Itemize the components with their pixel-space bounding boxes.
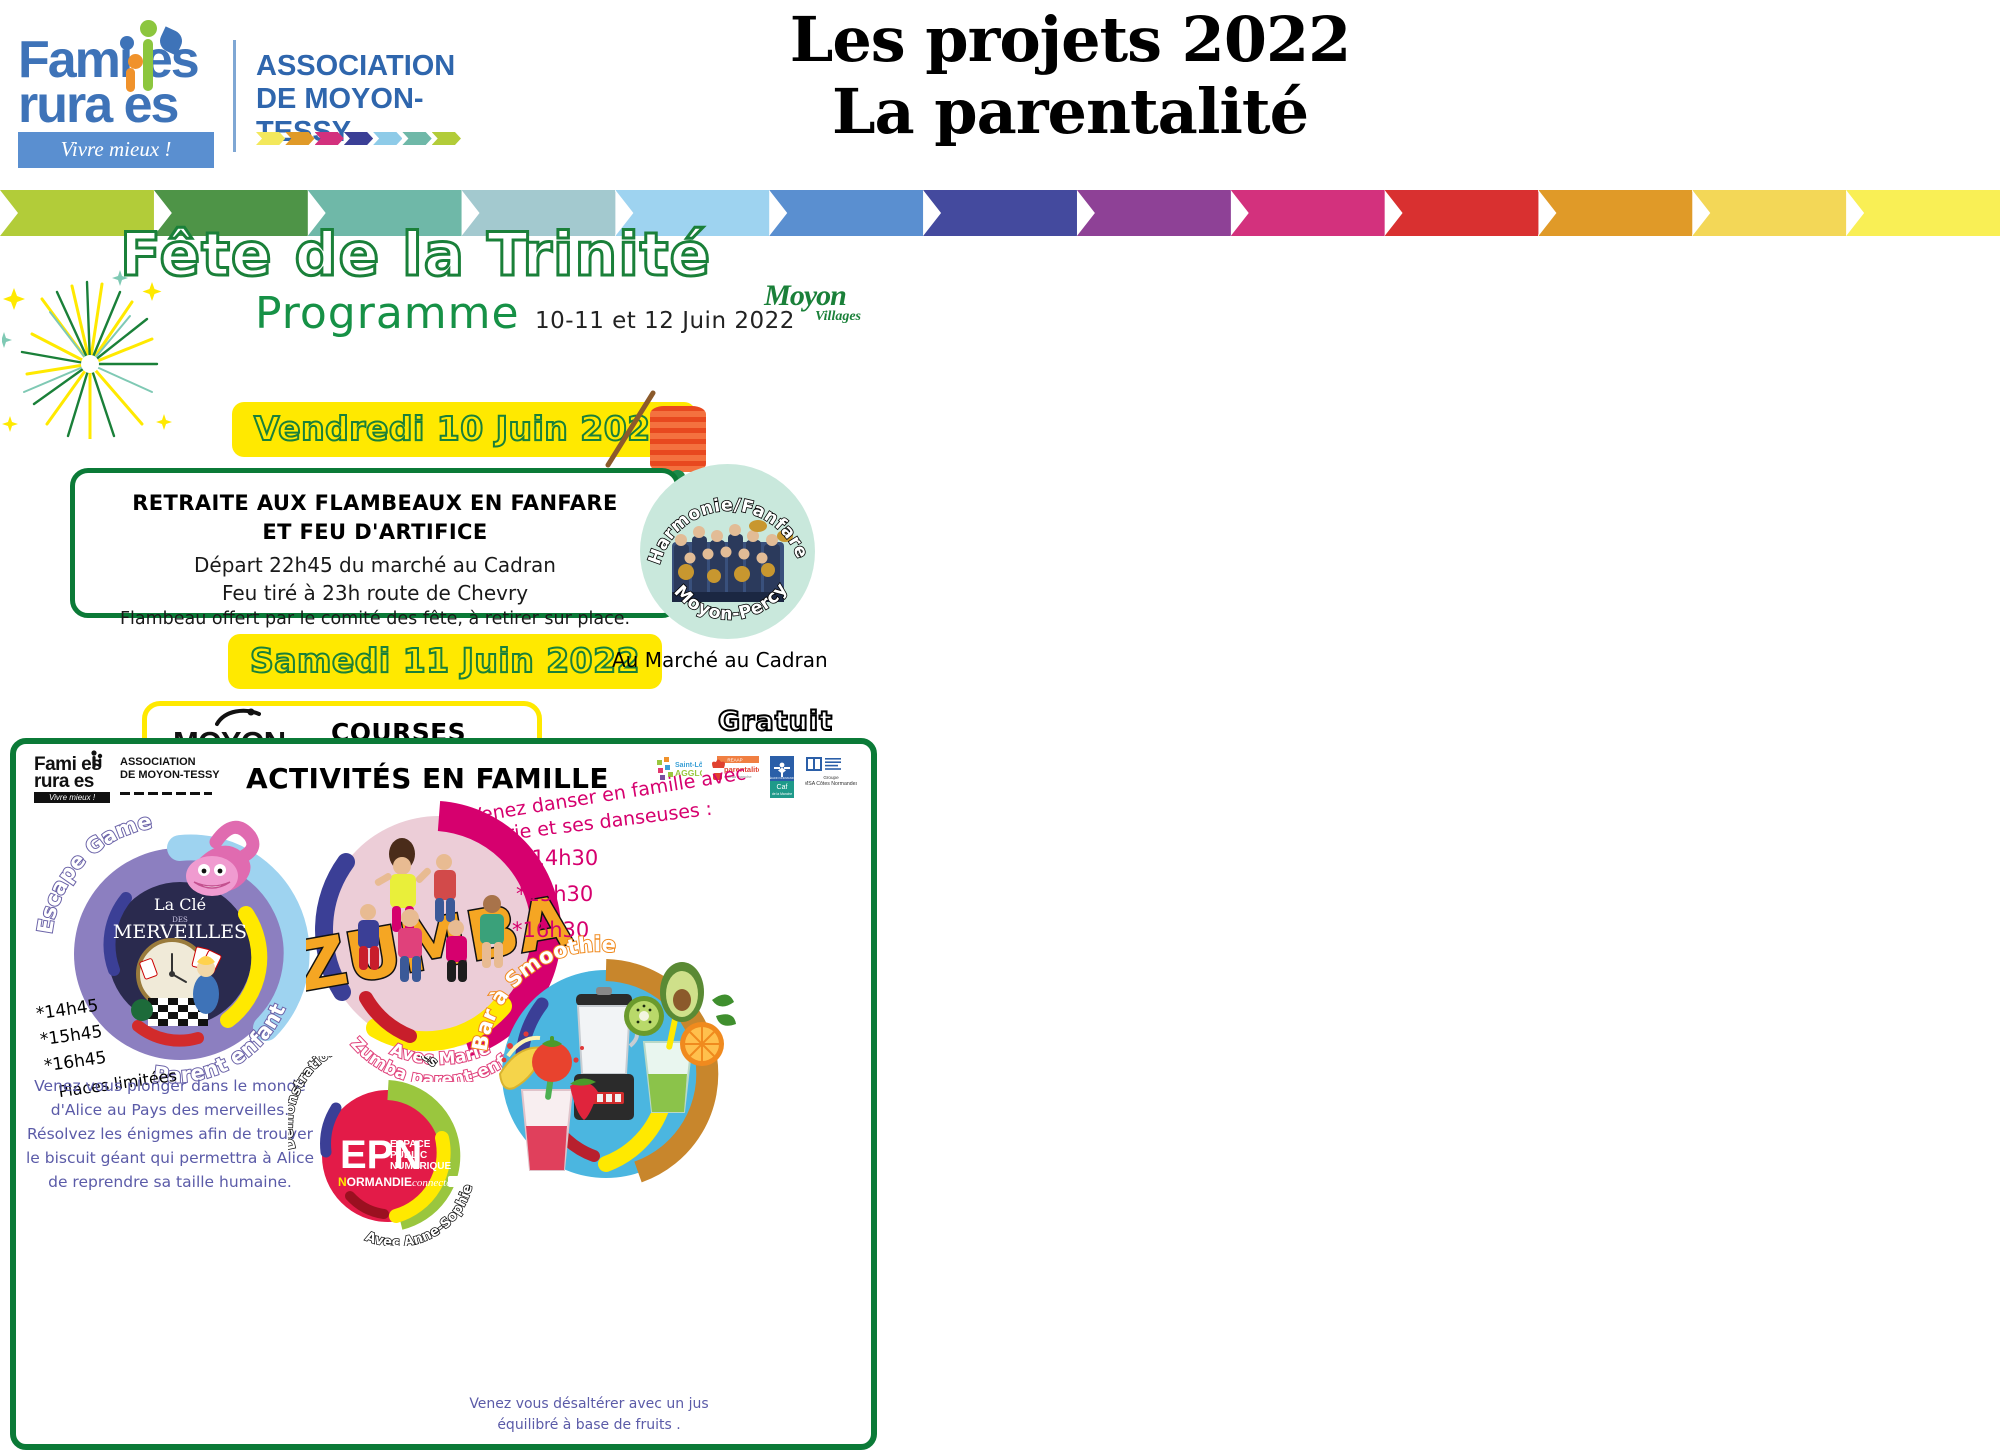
mini-assoc-line2: DE MOYON-TESSY (120, 769, 220, 782)
mint-leaves-icon (712, 994, 736, 1025)
partner-logo-msa: Groupe MSA Côtes Normandes (805, 756, 857, 793)
chevron-segment-6 (923, 190, 1077, 236)
logo-band-segment-2 (315, 132, 344, 145)
friday-title-2: ET FEU D'ARTIFICE (75, 520, 675, 544)
epn-side-2: PUBLIC (390, 1150, 427, 1161)
escape-description: Venez vous plonger dans le monde d'Alice… (26, 1074, 314, 1194)
chevron-segment-11 (1692, 190, 1846, 236)
friday-title-1: RETRAITE AUX FLAMBEAUX EN FANFARE (75, 491, 675, 515)
smoothie-graphic: Bar à Smoothie (466, 934, 756, 1204)
family-figures-icon (114, 20, 194, 92)
orange-icon (680, 1022, 724, 1066)
fanfare-photo-badge: Harmonie/Fanfare Moyon-Percy (640, 464, 815, 639)
epn-bottom-1: NORMANDIE (338, 1175, 412, 1189)
poster-content: Fête de la Trinité Moyon Villages Progra… (0, 236, 880, 1448)
mini-logo-dashes (120, 792, 212, 795)
zumba-time-2: *15h30 (516, 882, 593, 906)
festival-title: Fête de la Trinité (120, 220, 711, 290)
logo-band-segment-0 (256, 132, 285, 145)
logo-band-segment-6 (432, 132, 461, 145)
chevron-segment-12 (1846, 190, 2000, 236)
chevron-segment-10 (1538, 190, 1692, 236)
friday-line-3: Flambeau offert par le comité des fête, … (75, 609, 675, 629)
avocado-icon (660, 962, 704, 1022)
logo-band-segment-5 (402, 132, 431, 145)
svg-text:La Clé: La Clé (154, 895, 206, 914)
logo-band-segment-1 (285, 132, 314, 145)
svg-text:Caf: Caf (777, 784, 788, 791)
svg-text:Groupe: Groupe (823, 775, 839, 780)
programme-dates: 10-11 et 12 Juin 2022 (535, 308, 795, 334)
firework-icon (2, 264, 177, 439)
saturday-date-chip: Samedi 11 Juin 2022 (228, 634, 662, 689)
logo-color-band (256, 132, 461, 145)
mini-logo-assoc: ASSOCIATION DE MOYON-TESSY (120, 756, 220, 782)
chevron-segment-5 (769, 190, 923, 236)
escape-game-graphic: La Clé DES MERVEILLES (30, 802, 320, 1092)
friday-line-1: Départ 22h45 du marché au Cadran (75, 553, 675, 577)
svg-text:RÉGION NORMANDIE: RÉGION NORMANDIE (768, 775, 797, 780)
logo-band-segment-3 (344, 132, 373, 145)
familles-rurales-logo: Fami es rura es Vivre mieux ! ASSOCIATIO… (18, 38, 438, 158)
logo-band-segment-4 (373, 132, 402, 145)
partner-logo-caf: RÉGION NORMANDIE Caf de la Manche (766, 756, 798, 801)
page-header: Fami es rura es Vivre mieux ! ASSOCIATIO… (0, 0, 2000, 185)
smoothie-description: Venez vous désaltérer avec un jus équili… (454, 1394, 724, 1436)
family-section-title: ACTIVITÉS EN FAMILLE (246, 762, 609, 795)
programme-label: Programme (255, 288, 520, 339)
kiwi-icon (624, 996, 664, 1036)
mini-assoc-line1: ASSOCIATION (120, 756, 220, 769)
chevron-segment-7 (1077, 190, 1231, 236)
svg-text:de la Manche: de la Manche (772, 792, 792, 796)
chevron-segment-9 (1385, 190, 1539, 236)
family-activities-box: Fami es rura es Vivre mieux ! ASSOCIATIO… (10, 738, 877, 1450)
chevron-segment-8 (1231, 190, 1385, 236)
zumba-time-1: *14h30 (521, 846, 598, 870)
moyon-label: Moyon (745, 282, 865, 310)
free-label: Gratuit (718, 706, 833, 737)
friday-line-2: Feu tiré à 23h route de Chevry (75, 581, 675, 605)
svg-text:MSA Côtes Normandes: MSA Côtes Normandes (805, 781, 857, 787)
mini-family-figures-icon (88, 750, 104, 772)
logo-divider (233, 40, 236, 152)
assoc-line1: ASSOCIATION (256, 50, 455, 83)
logo-slogan: Vivre mieux ! (18, 132, 214, 168)
friday-event-box: RETRAITE AUX FLAMBEAUX EN FANFARE ET FEU… (70, 468, 680, 618)
epn-side-3: NUMÉRIQUE (390, 1159, 451, 1172)
epn-side-1: ESPACE (390, 1139, 431, 1150)
saturday-location-note: Au Marché au Cadran (612, 648, 828, 672)
cyclist-swoosh-icon (215, 708, 261, 730)
